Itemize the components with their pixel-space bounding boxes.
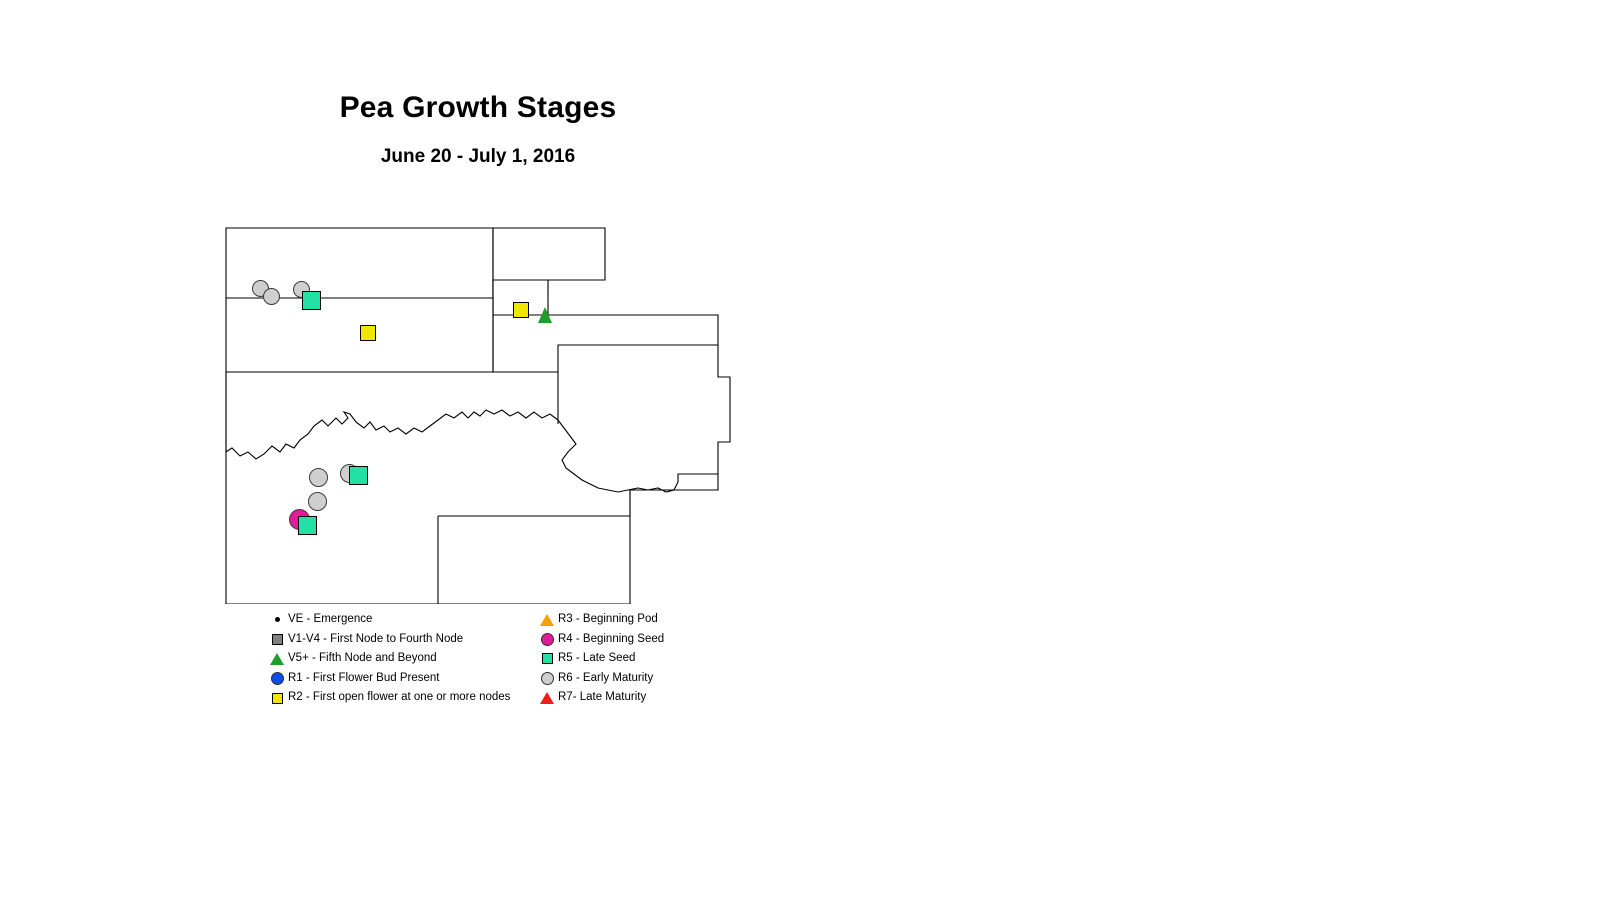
legend-symbol-square-icon	[266, 630, 288, 649]
ve-marker-icon	[275, 617, 280, 622]
legend-item-r7[interactable]: R7- Late Maturity	[536, 688, 706, 708]
legend-item-r5[interactable]: R5 - Late Seed	[536, 649, 706, 669]
map-marker-r6[interactable]	[309, 468, 328, 487]
legend-item-r1[interactable]: R1 - First Flower Bud Present	[266, 669, 528, 689]
legend-item-label: R7- Late Maturity	[558, 692, 646, 704]
map-marker-r2[interactable]	[513, 302, 529, 318]
legend-symbol-circle-icon	[536, 669, 558, 688]
r1-marker-icon	[271, 672, 284, 685]
legend-item-r4[interactable]: R4 - Beginning Seed	[536, 630, 706, 650]
page-title: Pea Growth Stages	[0, 92, 956, 124]
legend-item-label: R2 - First open flower at one or more no…	[288, 692, 510, 704]
legend-symbol-triangle-icon	[536, 610, 558, 629]
legend-symbol-square-icon	[536, 649, 558, 668]
map-marker-r5[interactable]	[302, 291, 321, 310]
map-marker-r5[interactable]	[298, 516, 317, 535]
legend-item-r3[interactable]: R3 - Beginning Pod	[536, 610, 706, 630]
legend-column-left: VE - EmergenceV1-V4 - First Node to Four…	[266, 610, 528, 708]
r5-marker-icon	[542, 653, 553, 664]
border-east-stairs	[718, 345, 730, 474]
r4-marker-icon	[541, 633, 554, 646]
r3-marker-icon	[540, 614, 554, 626]
v5--marker-icon	[270, 653, 284, 665]
legend-symbol-dot-icon	[266, 610, 288, 629]
map-marker-r6[interactable]	[308, 492, 327, 511]
legend-item-label: R3 - Beginning Pod	[558, 614, 658, 626]
legend-symbol-circle-icon	[536, 630, 558, 649]
region-south-main	[226, 372, 718, 604]
map-page: Pea Growth Stages June 20 - July 1, 2016	[0, 0, 1612, 900]
legend-column-right: R3 - Beginning PodR4 - Beginning SeedR5 …	[536, 610, 706, 708]
region-east-middle	[493, 315, 718, 372]
map-marker-r6[interactable]	[263, 288, 280, 305]
r7-marker-icon	[540, 692, 554, 704]
v1-v4-marker-icon	[272, 634, 283, 645]
legend-item-r2[interactable]: R2 - First open flower at one or more no…	[266, 688, 528, 708]
legend-item-label: V1-V4 - First Node to Fourth Node	[288, 634, 463, 646]
legend-item-label: V5+ - Fifth Node and Beyond	[288, 653, 437, 665]
legend-item-label: R1 - First Flower Bud Present	[288, 673, 439, 685]
legend-item-ve[interactable]: VE - Emergence	[266, 610, 528, 630]
legend-item-label: VE - Emergence	[288, 614, 372, 626]
legend-item-v1-v4[interactable]: V1-V4 - First Node to Fourth Node	[266, 630, 528, 650]
legend-item-label: R4 - Beginning Seed	[558, 634, 664, 646]
legend-item-r6[interactable]: R6 - Early Maturity	[536, 669, 706, 689]
county-outline-svg	[218, 212, 738, 604]
page-subtitle: June 20 - July 1, 2016	[0, 146, 956, 168]
legend: VE - EmergenceV1-V4 - First Node to Four…	[266, 610, 706, 722]
r2-marker-icon	[272, 693, 283, 704]
title-block: Pea Growth Stages June 20 - July 1, 2016	[0, 92, 956, 168]
map-marker-v5-[interactable]	[538, 307, 552, 323]
legend-item-label: R5 - Late Seed	[558, 653, 635, 665]
legend-symbol-circle-icon	[266, 669, 288, 688]
map-canvas	[218, 212, 738, 604]
legend-symbol-triangle-icon	[266, 649, 288, 668]
legend-symbol-square-icon	[266, 689, 288, 708]
legend-item-v5-[interactable]: V5+ - Fifth Node and Beyond	[266, 649, 528, 669]
map-marker-r5[interactable]	[349, 466, 368, 485]
r6-marker-icon	[541, 672, 554, 685]
legend-symbol-triangle-icon	[536, 689, 558, 708]
map-marker-r2[interactable]	[360, 325, 376, 341]
legend-item-label: R6 - Early Maturity	[558, 673, 653, 685]
